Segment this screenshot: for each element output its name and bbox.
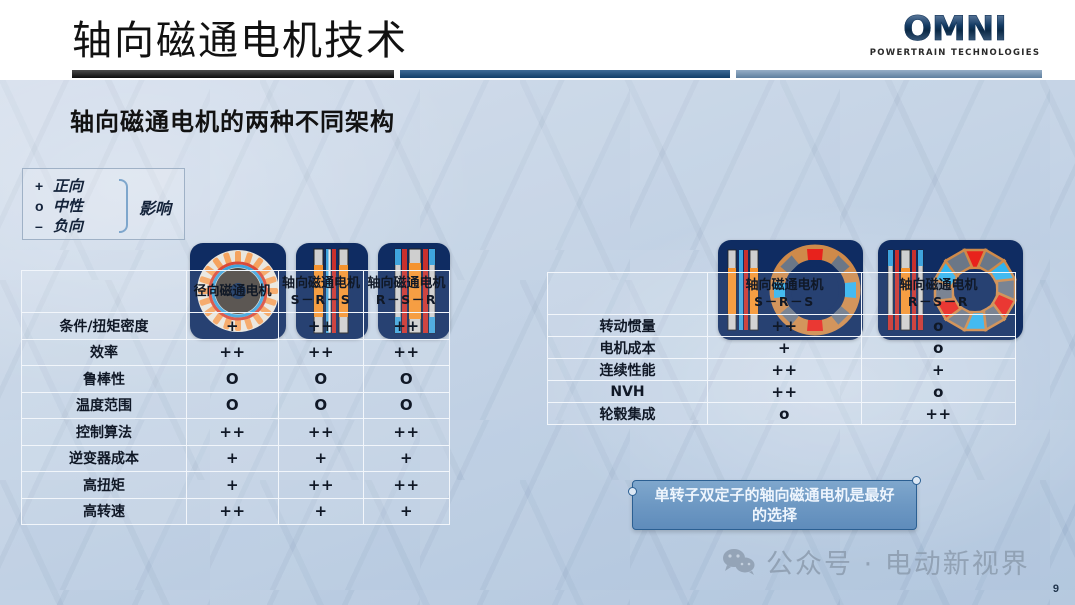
row-value: +	[279, 445, 364, 472]
table-row: 高转速 ++ + +	[22, 498, 450, 525]
page-number: 9	[1053, 583, 1059, 595]
table-row: 连续性能 ++ +	[548, 359, 1016, 381]
col-header-axial-rsr: 轴向磁通电机 R－S－R	[862, 273, 1016, 315]
col-header-axial-rsr: 轴向磁通电机 R－S－R	[364, 271, 450, 313]
callout-handle-left[interactable]	[628, 487, 637, 496]
row-value: +	[364, 498, 450, 525]
table-header-row: 轴向磁通电机 S－R－S 轴向磁通电机 R－S－R	[548, 273, 1016, 315]
legend-brace-label: 影响	[139, 195, 171, 219]
row-value: +	[187, 445, 279, 472]
row-value: ++	[364, 339, 450, 366]
row-value: ++	[279, 339, 364, 366]
page-title: 轴向磁通电机技术	[72, 8, 408, 66]
table-row: 转动惯量 ++ o	[548, 315, 1016, 337]
watermark: 公众号 · 电动新视界	[722, 542, 1030, 581]
header-rule-dark	[72, 70, 394, 78]
legend-label: 负向	[53, 218, 83, 235]
row-value: +	[708, 337, 862, 359]
row-label: 控制算法	[22, 419, 187, 446]
comparison-table-right: 轴向磁通电机 S－R－S 轴向磁通电机 R－S－R 转动惯量 ++ o 电机成本…	[547, 272, 1016, 425]
row-value: +	[279, 498, 364, 525]
table-header-row: 径向磁通电机 轴向磁通电机 S－R－S 轴向磁通电机 R－S－R	[22, 271, 450, 313]
row-value: ++	[279, 313, 364, 340]
omni-logo-wordmark: OMNI	[869, 12, 1041, 46]
row-value: ++	[187, 339, 279, 366]
legend-box: +正向 o中性 –负向 影响	[22, 168, 185, 240]
table-row: 控制算法 ++ ++ ++	[22, 419, 450, 446]
row-label: 效率	[22, 339, 187, 366]
row-value: ++	[364, 313, 450, 340]
row-value: ++	[187, 419, 279, 446]
table-row: 效率 ++ ++ ++	[22, 339, 450, 366]
table-row: 电机成本 + o	[548, 337, 1016, 359]
row-value: ++	[279, 419, 364, 446]
slide-body: 轴向磁通电机的两种不同架构 +正向 o中性 –负向 影响	[0, 80, 1075, 605]
table-row: 逆变器成本 + + +	[22, 445, 450, 472]
legend-row-neutral: o中性	[35, 195, 83, 216]
header-rule-blue	[400, 70, 730, 78]
row-label: 温度范围	[22, 392, 187, 419]
col-header-axial-srs: 轴向磁通电机 S－R－S	[708, 273, 862, 315]
table-row: NVH ++ o	[548, 381, 1016, 403]
row-label: 连续性能	[548, 359, 708, 381]
row-value: O	[279, 392, 364, 419]
legend-symbol: o	[35, 198, 53, 214]
row-value: ++	[708, 359, 862, 381]
row-label: 高转速	[22, 498, 187, 525]
row-label: 轮毂集成	[548, 403, 708, 425]
row-label: 高扭矩	[22, 472, 187, 499]
row-label: 电机成本	[548, 337, 708, 359]
comparison-table-left: 径向磁通电机 轴向磁通电机 S－R－S 轴向磁通电机 R－S－R 条件/扭矩密度…	[21, 270, 450, 525]
row-value: O	[187, 392, 279, 419]
row-label: 鲁棒性	[22, 366, 187, 393]
wechat-icon	[722, 548, 756, 576]
col-header-radial: 径向磁通电机	[187, 271, 279, 313]
table-row: 高扭矩 + ++ ++	[22, 472, 450, 499]
col-header-blank	[548, 273, 708, 315]
row-value: o	[862, 315, 1016, 337]
col-header-axial-srs: 轴向磁通电机 S－R－S	[279, 271, 364, 313]
slide-header: 轴向磁通电机技术 OMNI POWERTRAIN TECHNOLOGIES	[0, 0, 1075, 80]
row-value: ++	[279, 472, 364, 499]
header-rule-light	[736, 70, 1042, 78]
legend-row-positive: +正向	[35, 175, 83, 196]
row-value: ++	[708, 381, 862, 403]
slide-subtitle: 轴向磁通电机的两种不同架构	[70, 102, 395, 137]
legend-symbol: +	[35, 178, 53, 194]
col-header-blank	[22, 271, 187, 313]
row-value: O	[364, 392, 450, 419]
watermark-text: 公众号 · 电动新视界	[766, 542, 1030, 581]
legend-symbol: –	[35, 218, 53, 234]
row-value: +	[187, 313, 279, 340]
row-value: ++	[364, 472, 450, 499]
table-row: 轮毂集成 o ++	[548, 403, 1016, 425]
callout-text: 单转子双定子的轴向磁通电机是最好的选择	[650, 485, 900, 526]
table-row: 鲁棒性 O O O	[22, 366, 450, 393]
row-label: NVH	[548, 381, 708, 403]
row-value: O	[364, 366, 450, 393]
callout-handle-right[interactable]	[912, 476, 921, 485]
brace-icon	[119, 179, 128, 233]
legend-label: 中性	[53, 198, 83, 215]
row-value: O	[187, 366, 279, 393]
row-value: ++	[187, 498, 279, 525]
row-value: +	[364, 445, 450, 472]
row-value: o	[708, 403, 862, 425]
row-value: o	[862, 381, 1016, 403]
legend-label: 正向	[53, 178, 83, 195]
row-label: 条件/扭矩密度	[22, 313, 187, 340]
omni-logo-tagline: POWERTRAIN TECHNOLOGIES	[869, 48, 1041, 58]
table-row: 条件/扭矩密度 + ++ ++	[22, 313, 450, 340]
omni-logo: OMNI POWERTRAIN TECHNOLOGIES	[869, 12, 1041, 64]
conclusion-callout: 单转子双定子的轴向磁通电机是最好的选择	[632, 480, 917, 530]
row-value: o	[862, 337, 1016, 359]
row-value: +	[862, 359, 1016, 381]
legend-row-negative: –负向	[35, 215, 83, 236]
row-value: ++	[708, 315, 862, 337]
row-label: 转动惯量	[548, 315, 708, 337]
row-value: ++	[862, 403, 1016, 425]
row-value: +	[187, 472, 279, 499]
row-value: O	[279, 366, 364, 393]
table-row: 温度范围 O O O	[22, 392, 450, 419]
row-label: 逆变器成本	[22, 445, 187, 472]
row-value: ++	[364, 419, 450, 446]
